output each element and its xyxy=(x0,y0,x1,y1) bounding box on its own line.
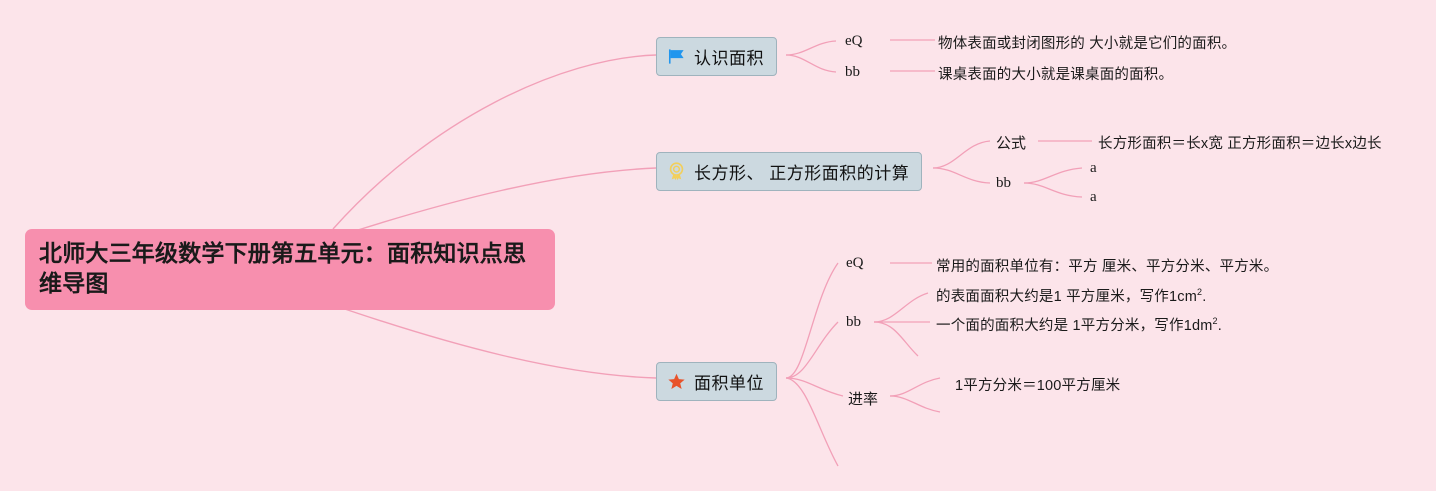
edge-b2-to-c2 xyxy=(933,168,990,183)
edge-b2-to-c1 xyxy=(933,141,990,168)
gold-medal-icon xyxy=(667,162,686,181)
leaf-b3-c2-b-period: . xyxy=(1218,318,1222,334)
root-node[interactable]: 北师大三年级数学下册第五单元：面积知识点思维导图 xyxy=(25,229,555,310)
edge-b1-to-c2 xyxy=(786,55,836,72)
edge-b3-to-c3 xyxy=(786,378,843,396)
leaf-b2-g2[interactable]: a xyxy=(1090,189,1097,206)
edge-b2c2-to-g2 xyxy=(1024,183,1082,197)
branch-node-rect-square-area-calc[interactable]: 长方形、 正方形面积的计算 xyxy=(656,152,922,191)
leaf-b3-c2-a-period: . xyxy=(1202,289,1206,305)
branch-node-area-units[interactable]: 面积单位 xyxy=(656,362,777,401)
edge-b1-to-c1 xyxy=(786,41,836,55)
leaf-b2-c1[interactable]: 长方形面积＝长x宽 正方形面积＝边长x边长 xyxy=(1098,132,1382,153)
leaf-b3-c2-a-text: 的表面面积大约是1 平方厘米，写作1cm xyxy=(936,289,1197,305)
sub-label-b2-c2[interactable]: bb xyxy=(996,175,1011,192)
edge-b3-to-c2 xyxy=(786,322,838,378)
edge-b3c3-to-leafA xyxy=(890,378,940,396)
leaf-b3-c2-b-text: 一个面的面积大约是 1平方分米，写作1dm xyxy=(936,318,1213,334)
leaf-b1-c1[interactable]: 物体表面或封闭图形的 大小就是它们的面积。 xyxy=(938,32,1236,53)
mindmap-canvas: 北师大三年级数学下册第五单元：面积知识点思维导图 认识面积 eQ bb 物体表面… xyxy=(0,0,1436,491)
leaf-b3-c3[interactable]: 1平方分米＝100平方厘米 xyxy=(955,374,1120,395)
sub-label-b1-c1[interactable]: eQ xyxy=(845,33,863,50)
sub-label-b3-c3[interactable]: 进率 xyxy=(848,388,878,409)
sub-label-b3-c2[interactable]: bb xyxy=(846,314,861,331)
edge-b3c2-to-leafC xyxy=(874,322,918,356)
leaf-b3-c2-a[interactable]: 的表面面积大约是1 平方厘米，写作1cm2. xyxy=(936,285,1206,306)
edge-root-to-b1 xyxy=(333,55,656,229)
edge-b2c2-to-g1 xyxy=(1024,168,1082,183)
sub-label-b1-c2[interactable]: bb xyxy=(845,64,860,81)
sub-label-b3-c1[interactable]: eQ xyxy=(846,255,864,272)
branch-label-b1: 认识面积 xyxy=(694,44,764,69)
branch-label-b2: 长方形、 正方形面积的计算 xyxy=(694,159,909,184)
edge-b3c3-to-leafB xyxy=(890,396,940,412)
branch-label-b3: 面积单位 xyxy=(694,369,764,394)
blue-flag-icon xyxy=(667,47,686,66)
orange-star-icon xyxy=(667,372,686,391)
leaf-b2-g1[interactable]: a xyxy=(1090,160,1097,177)
edge-root-to-b2 xyxy=(333,168,656,238)
branch-node-recognize-area[interactable]: 认识面积 xyxy=(656,37,777,76)
edge-b3c2-to-leafA xyxy=(874,293,928,322)
edge-root-to-b3 xyxy=(333,305,656,378)
sub-label-b2-c1[interactable]: 公式 xyxy=(996,132,1026,153)
root-title: 北师大三年级数学下册第五单元：面积知识点思维导图 xyxy=(39,238,541,299)
leaf-b3-c2-b[interactable]: 一个面的面积大约是 1平方分米，写作1dm2. xyxy=(936,314,1222,335)
edge-b3-to-c4-empty xyxy=(786,378,838,466)
leaf-b1-c2[interactable]: 课桌表面的大小就是课桌面的面积。 xyxy=(938,63,1173,84)
leaf-b3-c1[interactable]: 常用的面积单位有：平方 厘米、平方分米、平方米。 xyxy=(936,255,1278,276)
edge-b3-to-c1 xyxy=(786,263,838,378)
